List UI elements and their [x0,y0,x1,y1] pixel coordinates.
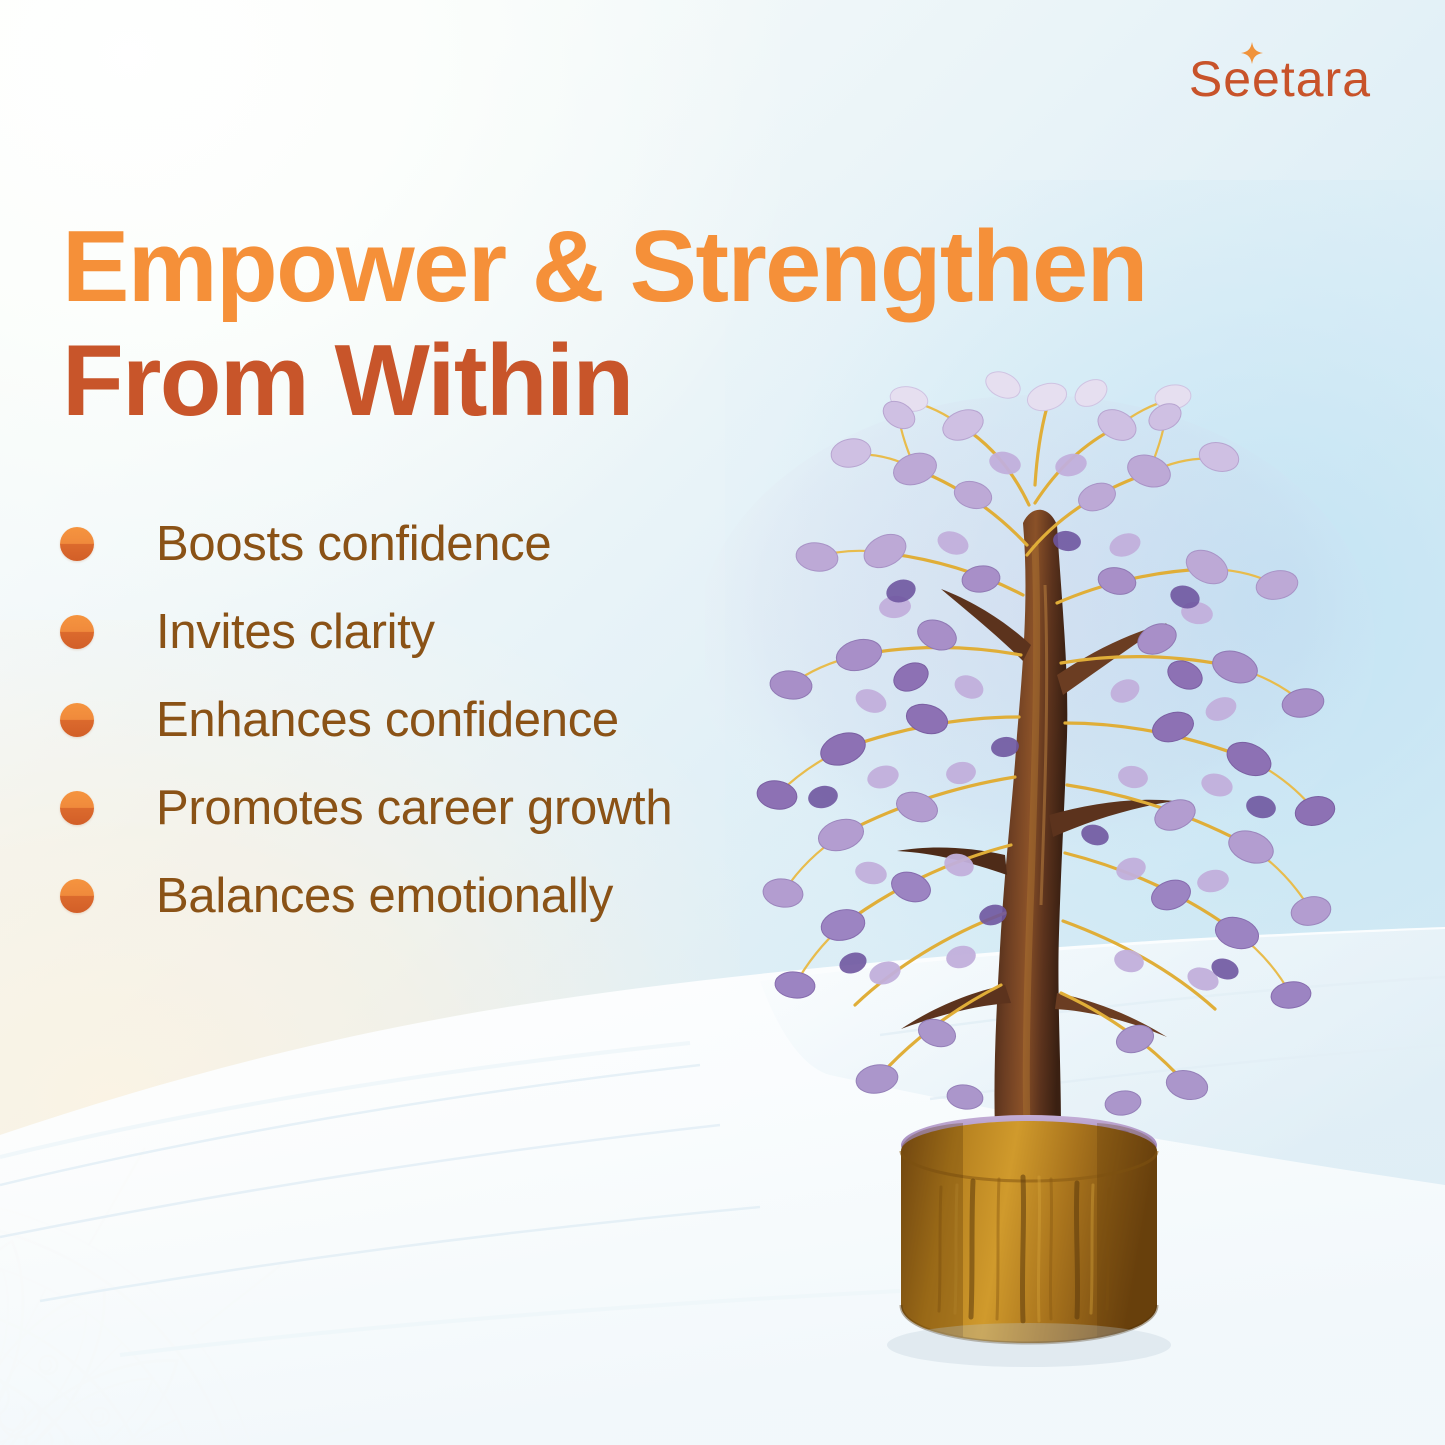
benefit-item: Promotes career growth [60,764,890,852]
bullet-dot-icon [60,703,94,737]
headline-line-2: From Within [62,324,1402,438]
benefit-label: Promotes career growth [156,784,672,833]
benefit-item: Boosts confidence [60,500,890,588]
bullet-dot-icon [60,879,94,913]
benefit-item: Invites clarity [60,588,890,676]
benefits-list: Boosts confidence Invites clarity Enhanc… [60,500,890,940]
promo-banner: Seetara Empower & Strengthen From Within… [0,0,1445,1445]
benefit-label: Enhances confidence [156,696,619,745]
benefit-item: Balances emotionally [60,852,890,940]
headline-line-1: Empower & Strengthen [62,210,1402,324]
benefit-label: Invites clarity [156,608,435,657]
page-title: Empower & Strengthen From Within [62,210,1402,438]
sparkle-icon [1241,42,1263,64]
benefit-item: Enhances confidence [60,676,890,764]
bullet-dot-icon [60,527,94,561]
benefit-label: Balances emotionally [156,872,613,921]
tree-trunk [897,510,1175,1131]
brand-name: Seetara [1189,54,1371,104]
brand-logo[interactable]: Seetara [1189,54,1371,114]
wooden-base [887,1115,1171,1367]
bullet-dot-icon [60,791,94,825]
benefit-label: Boosts confidence [156,520,551,569]
bullet-dot-icon [60,615,94,649]
gold-wire-branches [841,407,1251,1085]
mandala-ornament-icon [0,855,610,1445]
fabric-backdrop [0,885,1445,1445]
